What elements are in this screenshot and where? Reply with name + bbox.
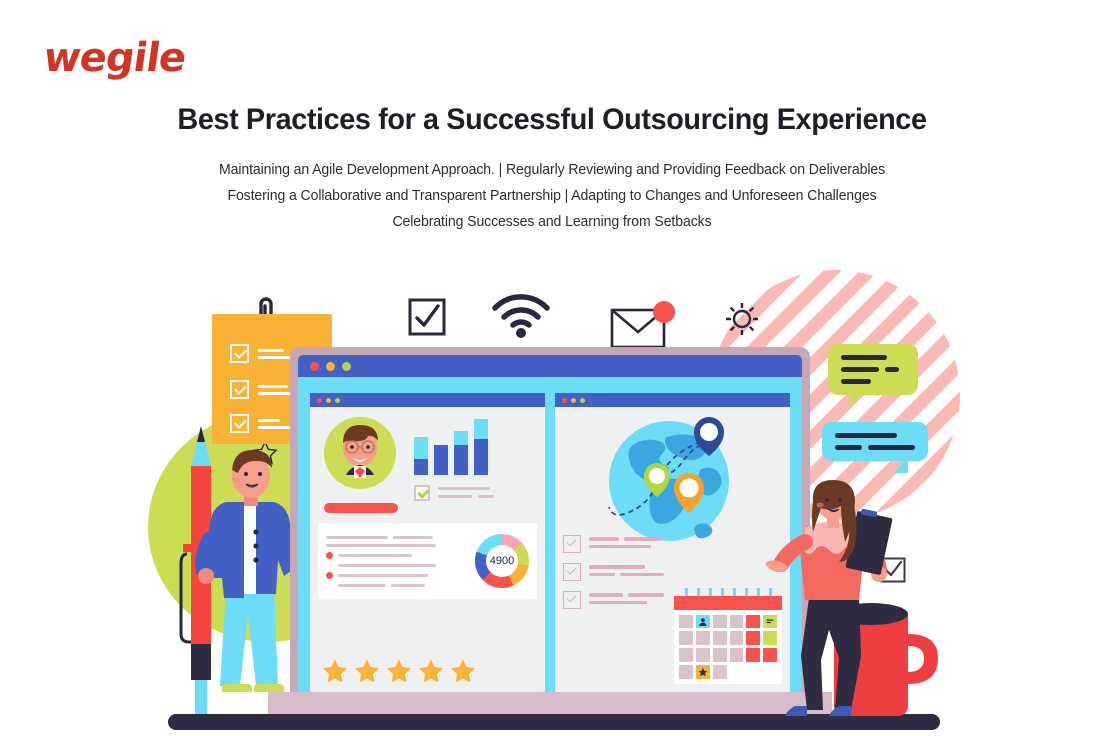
calendar-cell[interactable] bbox=[696, 631, 710, 645]
subtitle-line-1: Maintaining an Agile Development Approac… bbox=[17, 157, 1088, 183]
calendar-cell[interactable] bbox=[730, 648, 744, 662]
calendar-cell[interactable] bbox=[730, 631, 744, 645]
checklist-item bbox=[563, 591, 664, 609]
bar-2 bbox=[434, 445, 448, 475]
star-icon bbox=[698, 667, 708, 677]
donut-value-label: 4900 bbox=[490, 555, 514, 567]
star-icon bbox=[450, 658, 476, 684]
window-minimize-dot[interactable] bbox=[326, 362, 335, 371]
subtitle-line-2: Fostering a Collaborative and Transparen… bbox=[17, 183, 1088, 209]
calendar-cell[interactable] bbox=[713, 665, 727, 679]
calendar-cell[interactable] bbox=[679, 631, 693, 645]
subtitle-line-3: Celebrating Successes and Learning from … bbox=[17, 209, 1088, 235]
calendar-cell-empty bbox=[746, 665, 760, 679]
stats-card: 4900 bbox=[318, 523, 537, 599]
calendar-cell[interactable] bbox=[730, 615, 744, 629]
calendar-cell-person[interactable] bbox=[696, 615, 710, 629]
window-close-dot[interactable] bbox=[310, 362, 319, 371]
checklist-checkbox[interactable] bbox=[563, 563, 581, 581]
star-icon bbox=[386, 658, 412, 684]
star-icon bbox=[322, 658, 348, 684]
star-rating[interactable] bbox=[322, 658, 476, 684]
accent-bar bbox=[324, 503, 398, 513]
world-map-globe bbox=[597, 415, 749, 548]
bullet-dot bbox=[326, 552, 333, 559]
bar-1 bbox=[414, 437, 428, 475]
checklist-item bbox=[563, 535, 664, 553]
hero-illustration: 4900 bbox=[140, 252, 970, 732]
calendar-cell-highlight[interactable] bbox=[746, 615, 760, 629]
checklist-item bbox=[563, 563, 664, 581]
calendar-cell[interactable] bbox=[679, 665, 693, 679]
checklist-checkbox[interactable] bbox=[563, 591, 581, 609]
speech-bubble-blue bbox=[822, 422, 928, 461]
header-block: Best Practices for a Successful Outsourc… bbox=[0, 100, 1104, 235]
clipboard-item bbox=[230, 380, 292, 399]
bar-chart bbox=[414, 419, 488, 475]
clipboard-checkbox bbox=[230, 414, 249, 433]
dashboard-pane-left: 4900 bbox=[310, 393, 545, 692]
bar-3 bbox=[454, 431, 468, 475]
clipboard-checkbox bbox=[230, 344, 249, 363]
gear-icon bbox=[723, 300, 761, 343]
calendar-cell[interactable] bbox=[713, 631, 727, 645]
user-avatar bbox=[324, 417, 396, 489]
calendar-cell-star[interactable] bbox=[696, 665, 710, 679]
clipboard-item bbox=[230, 344, 296, 363]
character-woman-with-clipboard bbox=[765, 478, 915, 731]
star-icon bbox=[418, 658, 444, 684]
wifi-icon bbox=[490, 292, 552, 343]
calendar-cell-empty bbox=[730, 665, 744, 679]
star-icon bbox=[354, 658, 380, 684]
bullet-dot bbox=[326, 572, 333, 579]
clipboard-checkbox bbox=[230, 380, 249, 399]
pane-titlebar bbox=[555, 393, 790, 407]
dashboard-checkbox-row bbox=[414, 485, 494, 501]
calendar-cell[interactable] bbox=[713, 615, 727, 629]
laptop-screen: 4900 bbox=[290, 347, 810, 692]
calendar-cell-highlight[interactable] bbox=[746, 648, 760, 662]
calendar-cell[interactable] bbox=[679, 615, 693, 629]
speech-bubble-green bbox=[828, 344, 918, 395]
pane-titlebar bbox=[310, 393, 545, 407]
calendar-cell[interactable] bbox=[696, 648, 710, 662]
page-title: Best Practices for a Successful Outsourc… bbox=[22, 100, 1082, 141]
stats-card-lines bbox=[326, 536, 469, 587]
calendar-cell[interactable] bbox=[679, 648, 693, 662]
person-icon bbox=[698, 617, 708, 627]
green-checkbox bbox=[414, 485, 430, 501]
calendar-cell-highlight[interactable] bbox=[746, 631, 760, 645]
bar-4 bbox=[474, 419, 488, 475]
checklist-checkbox[interactable] bbox=[563, 535, 581, 553]
donut-chart: 4900 bbox=[475, 534, 529, 588]
dashboard-pane-right bbox=[555, 393, 790, 692]
subtitle-group: Maintaining an Agile Development Approac… bbox=[0, 157, 1104, 235]
task-checklist bbox=[563, 535, 664, 609]
brand-logo[interactable]: wegile bbox=[41, 38, 188, 78]
laptop-titlebar bbox=[298, 355, 802, 377]
calendar-cell[interactable] bbox=[713, 648, 727, 662]
window-maximize-dot[interactable] bbox=[342, 362, 351, 371]
checkbox-icon bbox=[408, 298, 446, 341]
